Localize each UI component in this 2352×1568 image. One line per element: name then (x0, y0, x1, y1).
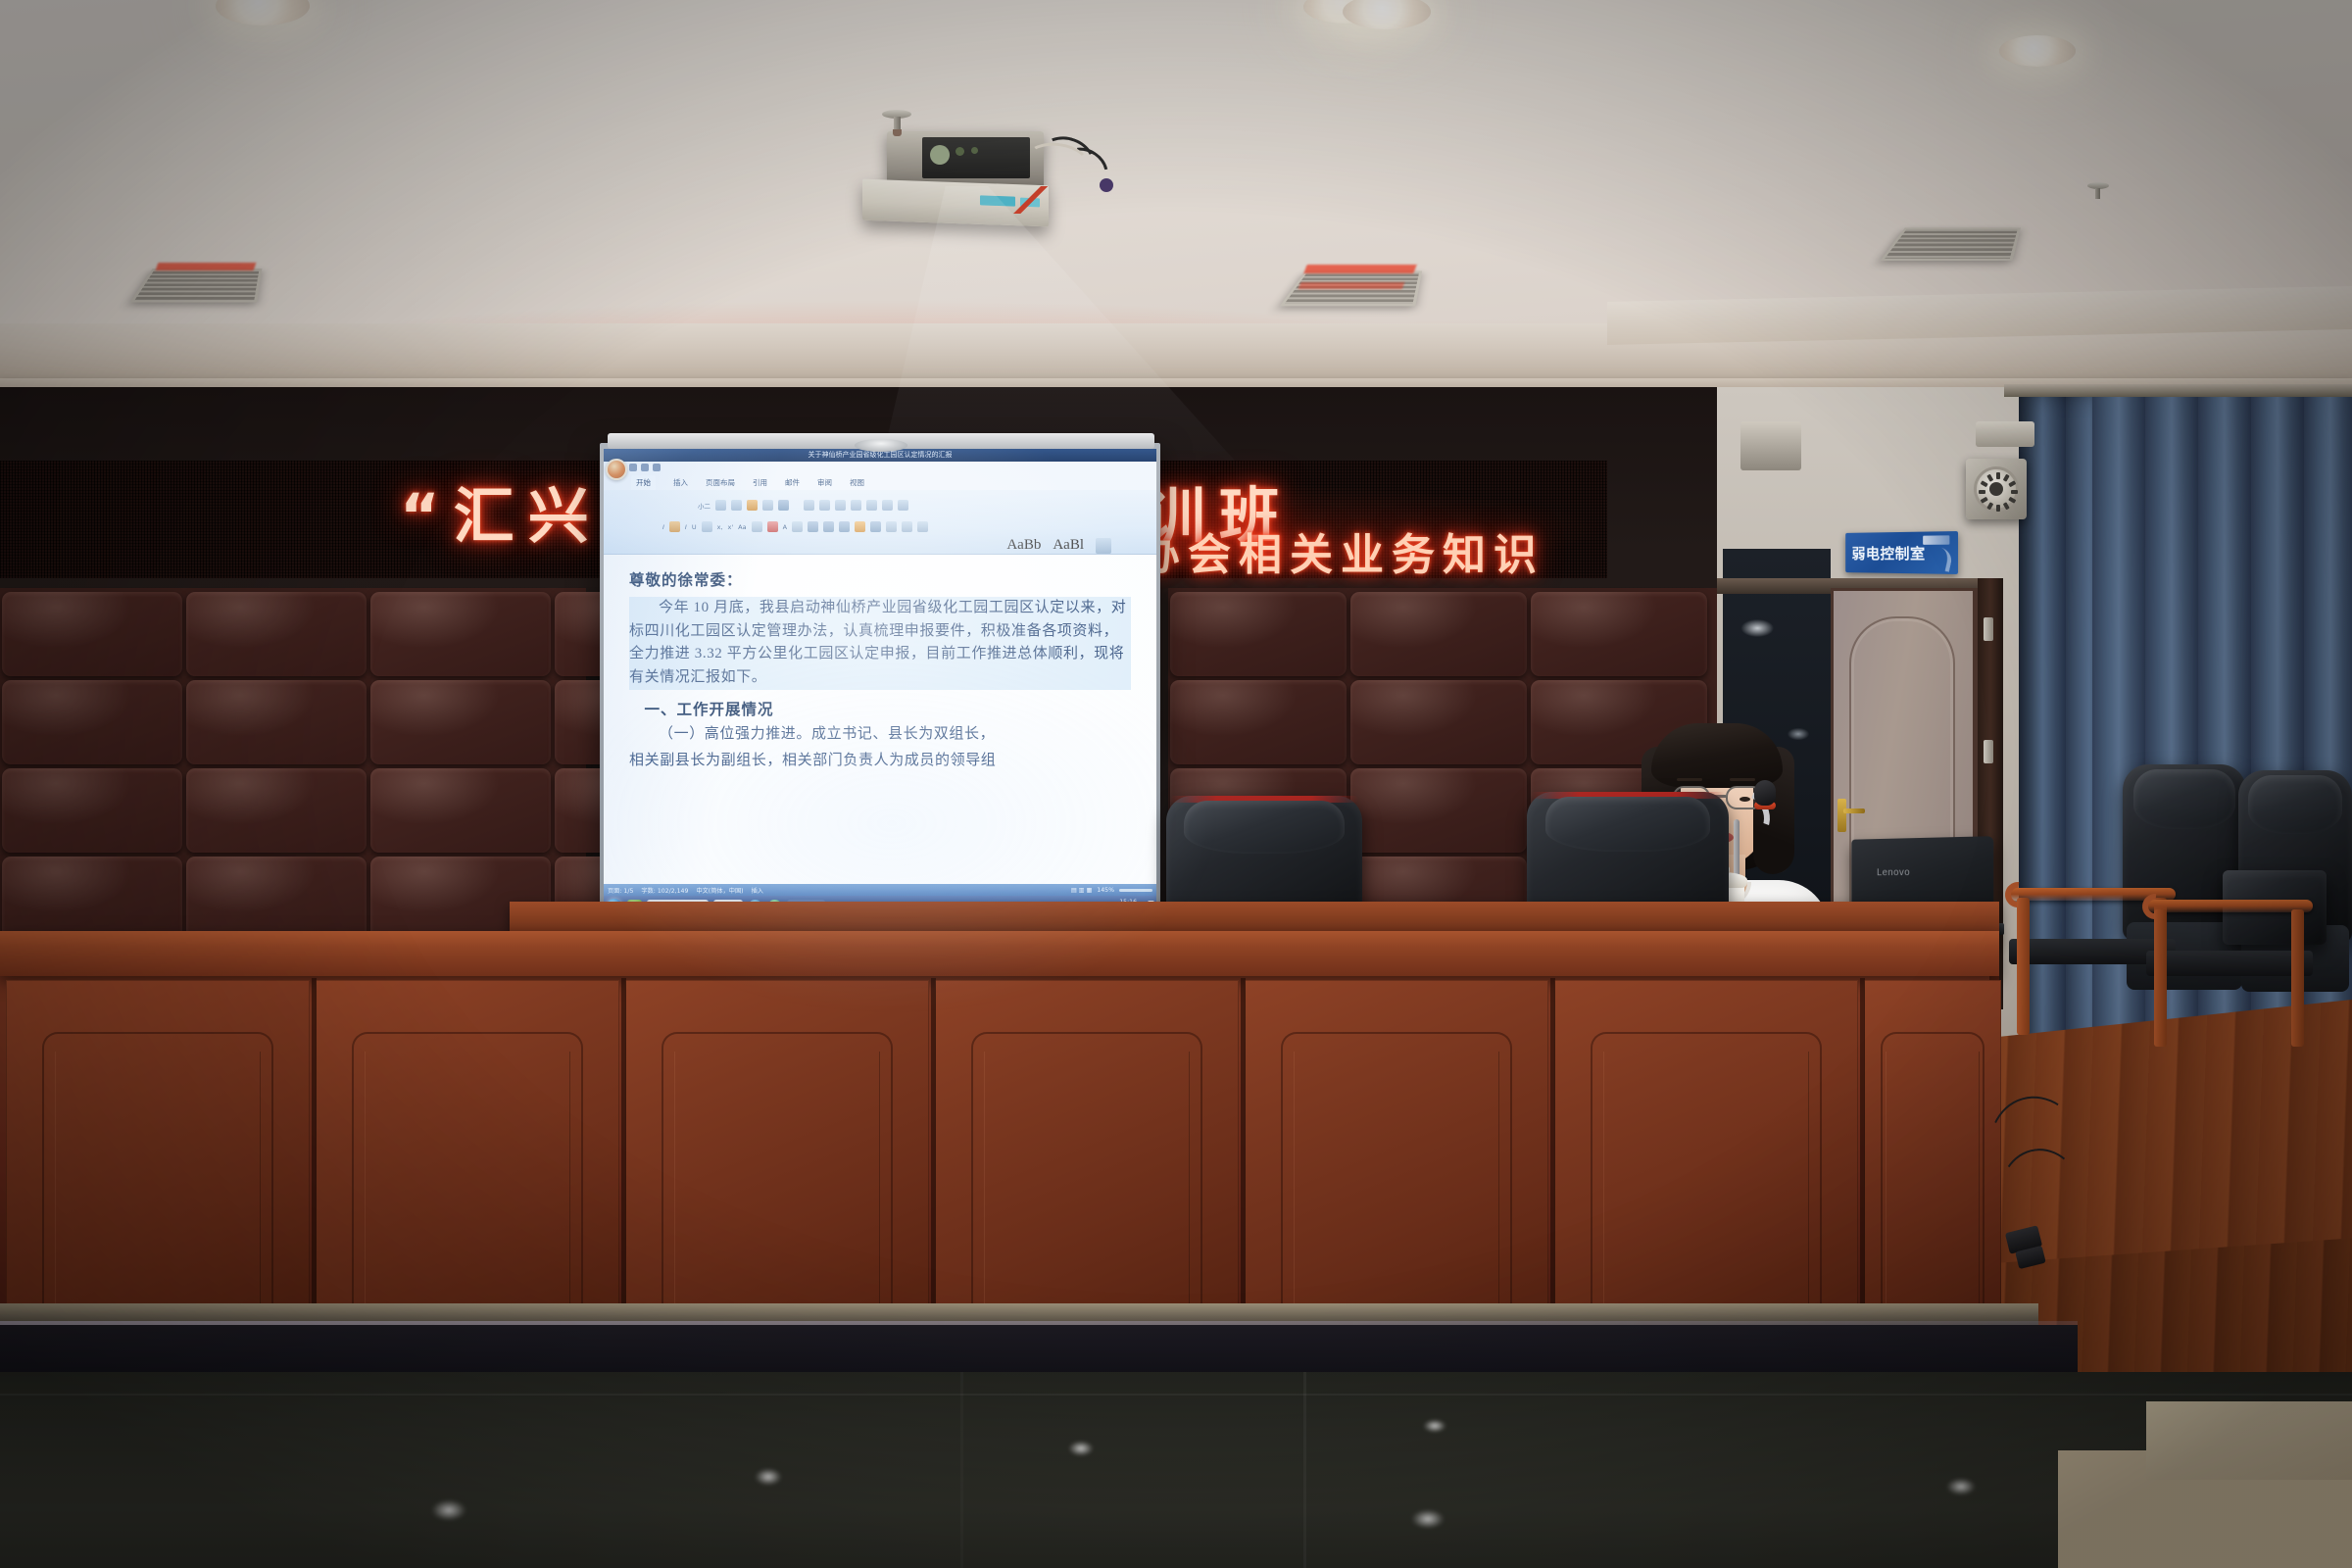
room-sign-weak-current-control-room: 弱电控制室 (1845, 531, 1958, 574)
phonetic-guide-icon[interactable] (762, 500, 773, 511)
text-highlight-icon[interactable] (752, 521, 762, 532)
fire-sprinkler-2-stem (2095, 188, 2100, 199)
fire-sprinkler-tip (893, 129, 902, 136)
air-conditioning-vent-left (130, 269, 263, 303)
word-document-area[interactable]: 尊敬的徐常委： 今年 10 月底，我县启动神仙桥产业园省级化工园工园区认定以来，… (604, 555, 1156, 884)
led-banner-line1: “汇兴 (400, 466, 603, 555)
numbered-list-icon[interactable] (819, 500, 830, 511)
projection-screen: 关于神仙桥产业园省级化工园区认定情况的汇报 开始 插入 页面布局 引用 邮件 审… (604, 449, 1156, 917)
armchair-seat (2146, 951, 2313, 976)
armchair-leg-front (2154, 909, 2167, 1047)
door-handle-plate[interactable] (1837, 799, 1846, 832)
change-case-icon[interactable]: Aa (738, 523, 746, 531)
podium-panel (1245, 980, 1548, 1307)
leather-pad (1350, 768, 1527, 853)
clock-tick (2003, 474, 2010, 482)
align-left-icon[interactable] (808, 521, 818, 532)
ribbon-row-align[interactable] (808, 521, 928, 532)
status-word-count: 字数: 102/2,149 (641, 886, 688, 895)
podium-seam (621, 978, 626, 1309)
podium-panel (935, 980, 1239, 1307)
hair-fringe (1651, 723, 1783, 788)
projector-connector (1100, 178, 1113, 192)
shading-icon[interactable] (902, 521, 912, 532)
ribbon-row-font[interactable]: 小二 (698, 500, 789, 511)
podium-desk-surface (0, 931, 1999, 976)
floor-marble-strip-2 (2146, 1401, 2352, 1480)
podium-seam (931, 978, 936, 1309)
podium-panel (1864, 980, 2001, 1307)
grow-font-icon[interactable] (715, 500, 726, 511)
chair-headrest (1545, 797, 1711, 852)
clock-tick (2003, 502, 2010, 510)
eyebrow-left (1677, 778, 1702, 781)
fire-sprinkler-stem (894, 117, 901, 130)
document-salutation: 尊敬的徐常委： (629, 568, 1131, 590)
projector-sticker-1 (980, 195, 1015, 206)
projector-port-2 (971, 147, 978, 154)
sign-logo (1923, 535, 1949, 545)
projector-red-stripe (1011, 186, 1049, 214)
leather-pad (2, 592, 182, 676)
word-status-bar: 页面: 1/5 字数: 102/2,149 中文(简体，中国) 插入 ▤ ▥ ▦… (604, 884, 1156, 896)
decrease-indent-icon[interactable] (851, 500, 861, 511)
tab-view[interactable]: 视图 (850, 477, 864, 488)
clock-tick (1981, 480, 1988, 487)
floor-light-reflection (1423, 1419, 1446, 1433)
podium-seam (1860, 978, 1865, 1309)
strikethrough-icon[interactable] (702, 521, 712, 532)
clock-tick (1986, 474, 1993, 482)
door-hinge-upper (1984, 617, 1993, 641)
wooden-armchair-2[interactable] (2146, 900, 2313, 1047)
clock-tick (1986, 502, 1993, 510)
door-hinge-lower (1984, 740, 1993, 763)
podium-seam (312, 978, 317, 1309)
leather-pad (186, 680, 367, 764)
leather-pad (2, 680, 182, 764)
leather-pad (186, 592, 367, 676)
clock-tick (2008, 497, 2016, 504)
clock-tick (1996, 505, 2000, 512)
microphone-head-center (1754, 780, 1776, 806)
podium-panel (316, 980, 619, 1307)
underline-icon[interactable]: U (692, 523, 697, 531)
vent-left-red-glow (156, 263, 257, 270)
leather-pad (1350, 680, 1527, 764)
tab-references[interactable]: 引用 (753, 477, 767, 488)
vent-center-red-glow (1303, 265, 1416, 273)
document-subsection-1: （一）高位强力推进。成立书记、县长为双组长， (629, 723, 1131, 746)
shrink-font-icon[interactable] (731, 500, 742, 511)
document-subsection-2: 相关副县长为副组长，相关部门负责人为成员的领导组 (629, 750, 1131, 772)
leather-pad (2, 768, 182, 853)
leather-wall-left (0, 588, 586, 951)
sign-swoosh-icon (1927, 546, 1954, 572)
leather-pad (370, 592, 551, 676)
polished-floor (0, 1372, 2352, 1568)
leather-pad (370, 768, 551, 853)
floor-seam-3 (960, 1372, 963, 1568)
document-paragraph: 今年 10 月底，我县启动神仙桥产业园省级化工园工园区认定以来，对标四川化工园区… (629, 597, 1131, 690)
projector-port-1 (955, 147, 964, 156)
ribbon-row-bold-italic[interactable]: I I U x, x' Aa A (662, 521, 803, 532)
armchair-leg-back (2291, 909, 2304, 1047)
leather-pad (186, 768, 367, 853)
clock-tick (1979, 490, 1985, 494)
clear-format-icon[interactable] (747, 500, 758, 511)
clock-tick (1981, 497, 1988, 504)
status-insert-mode: 插入 (752, 886, 763, 895)
office-button-icon[interactable] (606, 459, 627, 480)
wall-clock-face (1974, 466, 2019, 512)
armchair-arm-rail (2146, 900, 2313, 912)
podium-panel (625, 980, 929, 1307)
subscript-icon[interactable]: x, (717, 523, 723, 531)
undo-icon[interactable] (641, 464, 649, 471)
conference-room-scene: “汇兴 训班 办会相关业务知识 (0, 0, 2352, 1568)
italic-marker-icon: I (662, 523, 664, 531)
floor-seam-1 (0, 1394, 2352, 1396)
increase-indent-icon[interactable] (866, 500, 877, 511)
floor-light-reflection (1068, 1441, 1094, 1456)
downlight-4 (1999, 35, 2076, 67)
style-normal[interactable]: AaBb (1006, 537, 1041, 554)
tab-review[interactable]: 审阅 (817, 477, 832, 488)
tab-page-layout[interactable]: 页面布局 (706, 477, 735, 488)
bold-icon[interactable] (669, 521, 680, 532)
tab-mailings[interactable]: 邮件 (785, 477, 800, 488)
document-heading-1: 一、工作开展情况 (629, 698, 1131, 719)
leather-pad (2, 857, 182, 941)
room-sign-label: 弱电控制室 (1852, 542, 1926, 563)
enclose-char-icon[interactable] (792, 521, 803, 532)
ceiling-speaker (1740, 421, 1801, 470)
wall-junction-box (1976, 421, 2034, 447)
sort-icon[interactable] (882, 500, 893, 511)
tab-insert[interactable]: 插入 (673, 477, 688, 488)
status-bar-right[interactable]: ▤ ▥ ▦ 145% (1071, 887, 1152, 894)
ribbon-row-paragraph[interactable] (804, 500, 908, 511)
status-language: 中文(简体，中国) (696, 886, 743, 895)
chair-headrest (2133, 769, 2234, 829)
podium-panel (6, 980, 310, 1307)
floor-light-reflection (1411, 1509, 1445, 1529)
justify-icon[interactable] (855, 521, 865, 532)
document-page[interactable]: 尊敬的徐常委： 今年 10 月底，我县启动神仙桥产业园省级化工园工园区认定以来，… (612, 555, 1147, 884)
air-conditioning-vent-right (1880, 227, 2021, 261)
word-ribbon-tabs[interactable]: 开始 插入 页面布局 引用 邮件 审阅 视图 (631, 474, 864, 490)
podium-seam (1550, 978, 1555, 1309)
style-gallery[interactable]: AaBb AaBl (1006, 537, 1111, 554)
show-marks-icon[interactable] (898, 500, 908, 511)
projector-lens (930, 145, 950, 165)
leather-pad (186, 857, 367, 941)
tab-home[interactable]: 开始 (631, 475, 656, 490)
char-border-icon[interactable] (778, 500, 789, 511)
podium-seam (1241, 978, 1246, 1309)
quick-access-toolbar[interactable] (629, 462, 661, 472)
chair-headrest (2248, 775, 2341, 834)
document-fade (604, 851, 1156, 884)
vent-center-red-glow-2 (1298, 282, 1405, 289)
leather-pad (370, 680, 551, 764)
leather-pad (1170, 680, 1347, 764)
multilevel-list-icon[interactable] (835, 500, 846, 511)
zoom-slider[interactable] (1119, 889, 1152, 892)
chair-headrest (1184, 801, 1345, 854)
clock-tick (2008, 480, 2016, 487)
floor-light-reflection (1946, 1478, 1976, 1495)
floor-light-reflection (431, 1499, 466, 1521)
status-page-number: 页面: 1/5 (608, 886, 633, 895)
font-color-icon[interactable] (767, 521, 778, 532)
distribute-icon[interactable] (870, 521, 881, 532)
door-handle-lever[interactable] (1843, 808, 1865, 813)
podium-panel (1554, 980, 1858, 1307)
save-icon[interactable] (629, 464, 637, 471)
font-size-value[interactable]: 小二 (698, 501, 710, 511)
stage-edge-highlight (0, 1321, 2078, 1325)
change-styles-icon[interactable] (1096, 538, 1111, 554)
italic-icon[interactable]: I (685, 523, 687, 531)
bullet-list-icon[interactable] (804, 500, 814, 511)
clock-tick (2011, 490, 2018, 494)
word-ribbon: 小二 I I U x, (604, 490, 1156, 555)
redo-icon[interactable] (653, 464, 661, 471)
leather-pad (1531, 592, 1707, 676)
align-right-icon[interactable] (839, 521, 850, 532)
borders-icon[interactable] (917, 521, 928, 532)
eyebrow-right (1730, 778, 1755, 781)
leather-pad (1170, 592, 1347, 676)
armchair-leg-front (2017, 898, 2030, 1035)
text-effects-icon[interactable]: A (783, 523, 787, 531)
leather-pad (1350, 592, 1527, 676)
status-zoom-level[interactable]: 145% (1097, 887, 1114, 894)
laptop-brand-label: Lenovo (1877, 867, 1910, 878)
align-center-icon[interactable] (823, 521, 834, 532)
curtain-rod (2004, 384, 2352, 397)
floor-seam-2 (1303, 1372, 1306, 1568)
style-heading1[interactable]: AaBl (1053, 537, 1084, 554)
projection-screen-knob (855, 439, 907, 452)
wall-clock (1966, 459, 2027, 519)
superscript-icon[interactable]: x' (728, 523, 734, 531)
view-buttons-icon[interactable]: ▤ ▥ ▦ (1071, 887, 1092, 894)
clock-tick (1996, 472, 2000, 479)
led-banner-line2: 办会相关业务知识 (1137, 519, 1544, 582)
floor-light-reflection (755, 1468, 782, 1486)
line-spacing-icon[interactable] (886, 521, 897, 532)
